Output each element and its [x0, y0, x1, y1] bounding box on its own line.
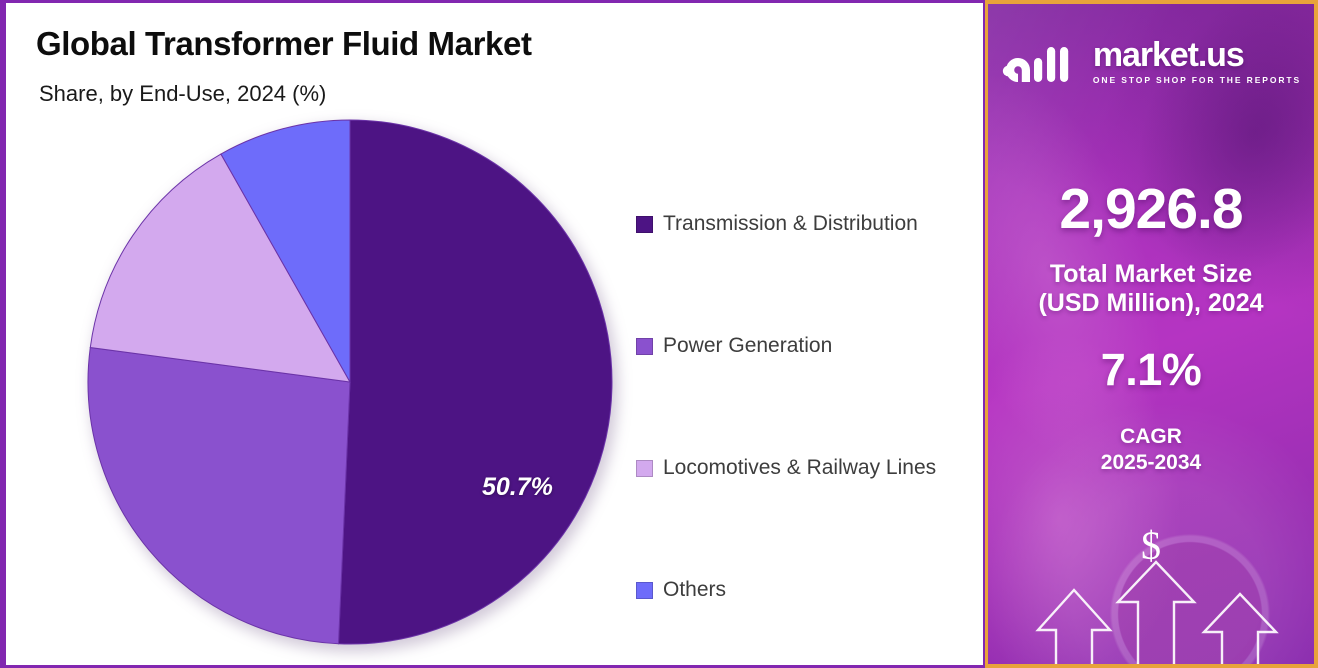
market-size-caption: Total Market Size (USD Million), 2024	[988, 260, 1314, 319]
legend-item-locomotives-railway-lines[interactable]: Locomotives & Railway Lines	[636, 407, 986, 529]
brand-name: market.us	[1093, 38, 1244, 72]
cagr-value: 7.1%	[988, 344, 1314, 396]
legend-item-transmission-distribution[interactable]: Transmission & Distribution	[636, 163, 986, 285]
chart-panel: Global Transformer Fluid Market Share, b…	[0, 0, 985, 668]
pie-slice[interactable]	[338, 120, 612, 644]
page-title: Global Transformer Fluid Market	[36, 25, 532, 63]
legend: Transmission & Distribution Power Genera…	[636, 163, 986, 651]
legend-item-power-generation[interactable]: Power Generation	[636, 285, 986, 407]
pie-chart: 50.7%	[84, 116, 616, 648]
market-size-value: 2,926.8	[988, 176, 1314, 242]
cagr-caption-line1: CAGR	[1120, 425, 1182, 448]
market-size-caption-line2: (USD Million), 2024	[1038, 289, 1263, 317]
legend-label: Power Generation	[663, 334, 832, 358]
market-us-logo-icon	[1001, 41, 1081, 83]
page-subtitle: Share, by End-Use, 2024 (%)	[39, 81, 326, 107]
legend-swatch-icon	[636, 460, 653, 477]
brand-tagline: ONE STOP SHOP FOR THE REPORTS	[1093, 75, 1301, 85]
infographic-root: Global Transformer Fluid Market Share, b…	[0, 0, 1318, 668]
cagr-caption-line2: 2025-2034	[1101, 451, 1201, 474]
brand-logo[interactable]: market.us ONE STOP SHOP FOR THE REPORTS	[988, 38, 1314, 85]
brand-logo-text: market.us ONE STOP SHOP FOR THE REPORTS	[1093, 38, 1301, 85]
growth-arrows-icon	[1016, 554, 1296, 664]
pie-slice-label-transmission: 50.7%	[482, 473, 553, 502]
cagr-caption: CAGR 2025-2034	[988, 424, 1314, 477]
legend-swatch-icon	[636, 582, 653, 599]
legend-label: Others	[663, 578, 726, 602]
legend-swatch-icon	[636, 338, 653, 355]
legend-label: Locomotives & Railway Lines	[663, 456, 936, 480]
pie-slice[interactable]	[88, 348, 350, 644]
market-size-caption-line1: Total Market Size	[1050, 260, 1252, 288]
legend-swatch-icon	[636, 216, 653, 233]
pie-slices	[84, 116, 616, 648]
brand-panel: market.us ONE STOP SHOP FOR THE REPORTS …	[985, 0, 1318, 668]
legend-item-others[interactable]: Others	[636, 529, 986, 651]
legend-label: Transmission & Distribution	[663, 212, 918, 236]
